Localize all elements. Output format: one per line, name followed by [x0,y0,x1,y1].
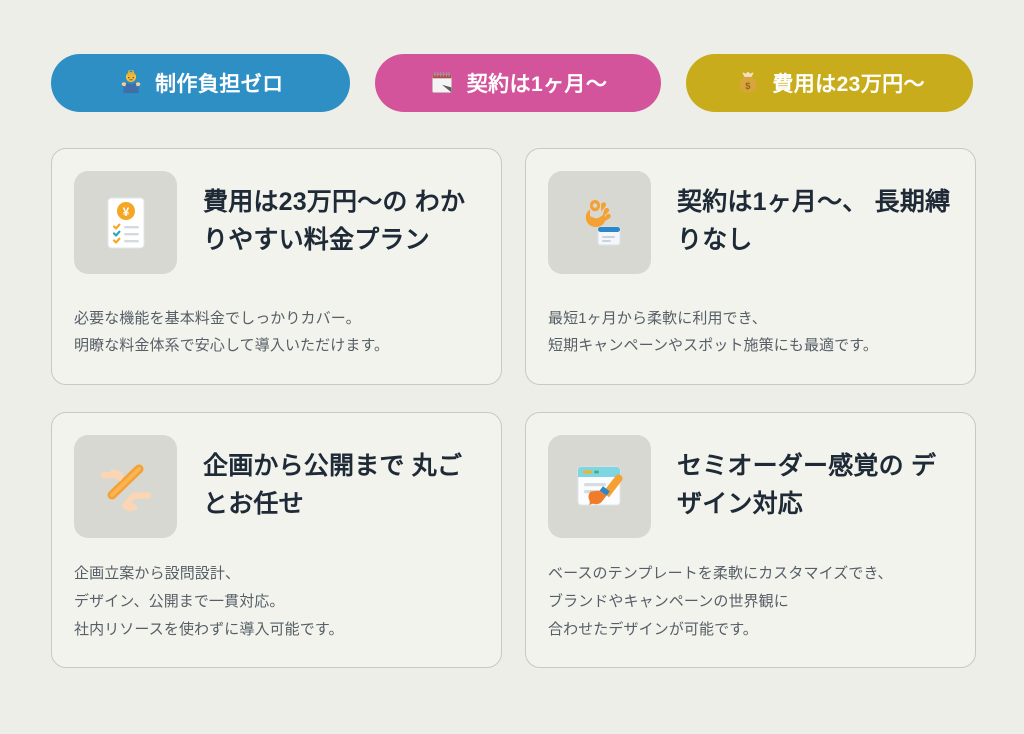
card-title-line: 契約は1ヶ月〜、 [677,188,868,216]
highlight-pill-contract-term[interactable]: 契約は1ヶ月〜 [375,54,662,112]
card-title-line: 企画から公開まで [203,452,405,480]
card-description-line: 短期キャンペーンやスポット施策にも最適です。 [548,332,953,360]
feature-card-contract: 契約は1ヶ月〜、 長期縛りなし 最短1ヶ月から柔軟に利用でき、 短期キャンペーン… [525,148,976,385]
card-title: 契約は1ヶ月〜、 長期縛りなし [677,171,953,259]
card-description: 必要な機能を基本料金でしっかりカバー。 明瞭な料金体系で安心して導入いただけます… [74,283,479,361]
card-description: ベースのテンプレートを柔軟にカスタマイズでき、 ブランドやキャンペーンの世界観に… [548,538,953,643]
card-description-line: デザイン、公開まで一貫対応。 [74,588,479,616]
feature-card-full-support: 企画から公開まで 丸ごとお任せ 企画立案から設問設計、 デザイン、公開まで一貫対… [51,412,502,668]
icon-tile [548,171,651,274]
card-description: 最短1ヶ月から柔軟に利用でき、 短期キャンペーンやスポット施策にも最適です。 [548,283,953,361]
feature-card-grid: ¥ 費用は23万円〜の わかりやすい料金プラン [51,148,973,668]
card-description-line: 企画立案から設問設計、 [74,560,479,588]
highlight-pill-label: 費用は23万円〜 [772,68,925,98]
browser-paintbrush-icon [568,455,632,519]
baton-handoff-icon [94,455,158,519]
card-header: ¥ 費用は23万円〜の わかりやすい料金プラン [74,171,479,274]
svg-text:¥: ¥ [122,205,129,219]
card-description-line: 明瞭な料金体系で安心して導入いただけます。 [74,332,479,360]
card-header: 企画から公開まで 丸ごとお任せ [74,435,479,538]
money-bag-icon: $ [734,70,761,97]
icon-tile [74,435,177,538]
card-title-line: セミオーダー感覚の [677,452,904,480]
price-document-icon: ¥ [94,191,158,255]
card-description-line: 必要な機能を基本料金でしっかりカバー。 [74,305,479,333]
highlight-pill-production-burden[interactable]: 制作負担ゼロ [51,54,350,112]
card-description: 企画立案から設問設計、 デザイン、公開まで一貫対応。 社内リソースを使わずに導入… [74,538,479,643]
svg-text:$: $ [745,81,751,91]
card-header: セミオーダー感覚の デザイン対応 [548,435,953,538]
person-gesturing-ok-icon [117,70,144,97]
card-description-line: ブランドやキャンペーンの世界観に [548,588,953,616]
card-header: 契約は1ヶ月〜、 長期縛りなし [548,171,953,274]
feature-page: 制作負担ゼロ 契約は1ヶ月〜 [0,0,1024,734]
card-title-line: 費用は23万円〜の [203,188,408,216]
highlight-pill-row: 制作負担ゼロ 契約は1ヶ月〜 [51,54,973,112]
card-title: 企画から公開まで 丸ごとお任せ [203,435,479,523]
icon-tile: ¥ [74,171,177,274]
highlight-pill-price[interactable]: $ 費用は23万円〜 [686,54,973,112]
card-title: セミオーダー感覚の デザイン対応 [677,435,953,523]
card-title: 費用は23万円〜の わかりやすい料金プラン [203,171,479,259]
feature-card-pricing: ¥ 費用は23万円〜の わかりやすい料金プラン [51,148,502,385]
highlight-pill-label: 制作負担ゼロ [155,68,283,98]
ok-hand-calendar-icon [568,191,632,255]
feature-card-design: セミオーダー感覚の デザイン対応 ベースのテンプレートを柔軟にカスタマイズでき、… [525,412,976,668]
highlight-pill-label: 契約は1ヶ月〜 [467,68,607,98]
card-description-line: ベースのテンプレートを柔軟にカスタマイズでき、 [548,560,953,588]
spiral-calendar-icon [429,70,456,97]
card-description-line: 社内リソースを使わずに導入可能です。 [74,616,479,644]
card-description-line: 合わせたデザインが可能です。 [548,616,953,644]
card-description-line: 最短1ヶ月から柔軟に利用でき、 [548,305,953,333]
icon-tile [548,435,651,538]
